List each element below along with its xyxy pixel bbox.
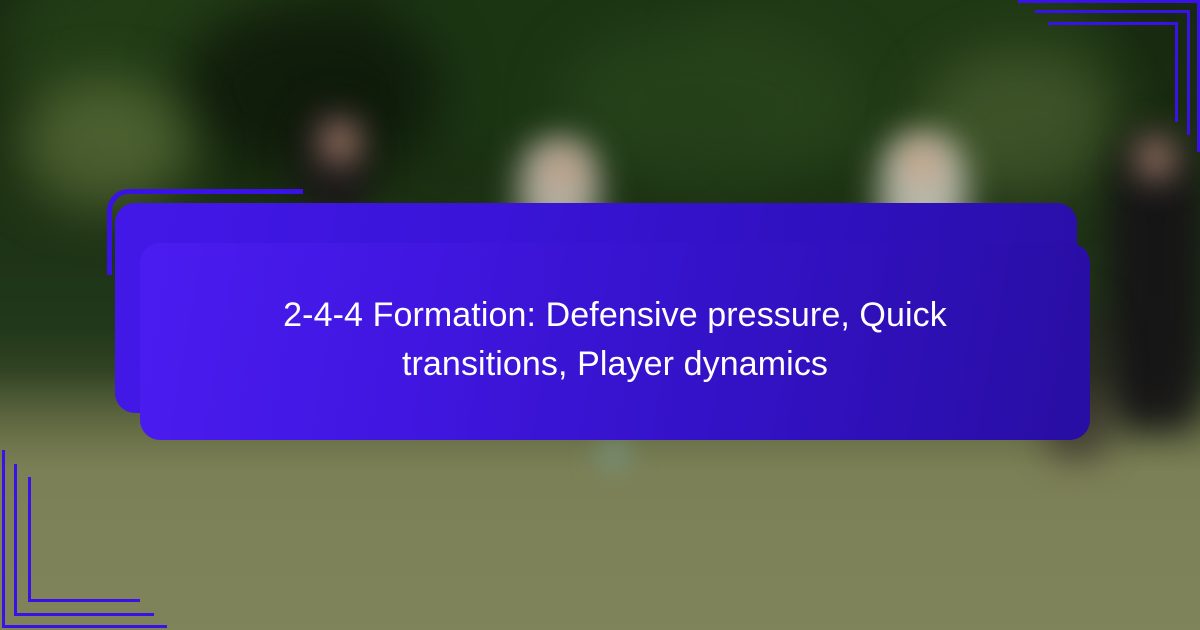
blurred-player-head xyxy=(546,150,580,188)
blurred-ball xyxy=(596,440,632,470)
social-card-canvas: 2-4-4 Formation: Defensive pressure, Qui… xyxy=(0,0,1200,630)
headline-text: 2-4-4 Formation: Defensive pressure, Qui… xyxy=(225,291,1005,392)
foliage-blob xyxy=(560,20,860,190)
blurred-player-head xyxy=(322,122,358,162)
headline-card: 2-4-4 Formation: Defensive pressure, Qui… xyxy=(140,243,1090,440)
blurred-player-head xyxy=(904,142,940,182)
corner-bracket-bottom-left-inner xyxy=(28,477,140,602)
corner-bracket-top-right-inner xyxy=(1048,22,1178,122)
